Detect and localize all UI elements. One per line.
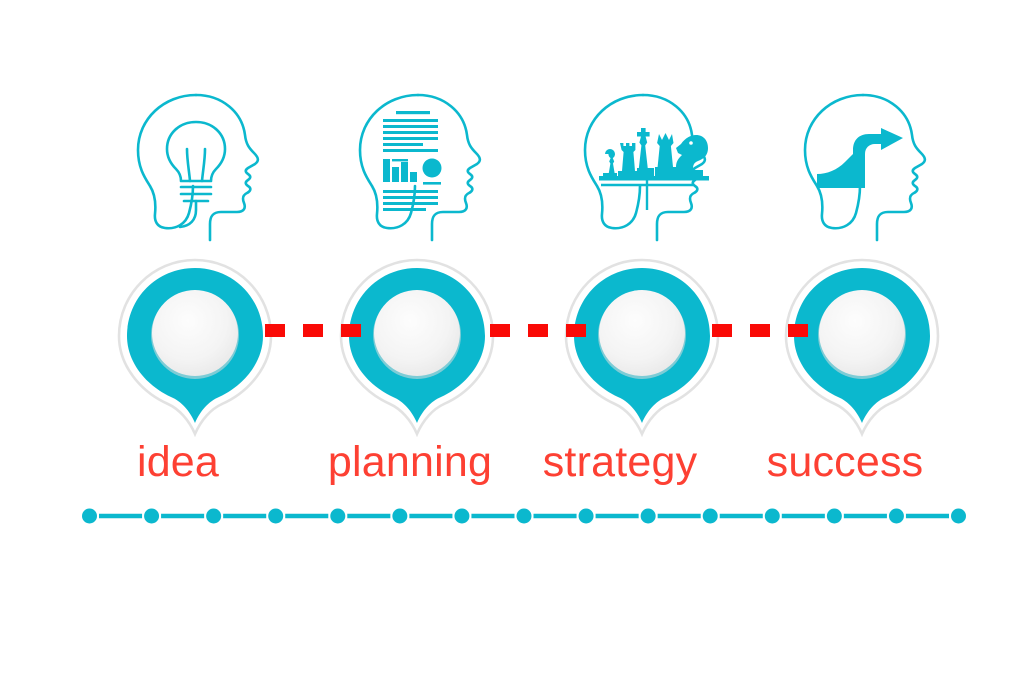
- connector-planning-strategy: [490, 322, 586, 338]
- pin-marker-strategy[interactable]: [552, 252, 732, 442]
- dash-segment: [490, 324, 510, 337]
- pin-marker-idea[interactable]: [105, 252, 285, 442]
- dash-segment: [750, 324, 770, 337]
- icon-row: [0, 88, 1024, 248]
- head-growth-arrow-icon: [785, 88, 955, 248]
- dash-segment: [712, 324, 732, 337]
- step-label-idea: idea: [48, 434, 308, 490]
- dash-segment: [788, 324, 808, 337]
- infographic-canvas: idea planning strategy success: [0, 0, 1024, 682]
- dash-segment: [303, 324, 323, 337]
- head-lightbulb-icon: [118, 88, 288, 248]
- label-row: idea planning strategy success: [0, 434, 1024, 494]
- connector-strategy-success: [712, 322, 808, 338]
- step-label-success: success: [715, 434, 975, 490]
- dash-segment: [566, 324, 586, 337]
- pin-row: [0, 252, 1024, 442]
- connector-idea-planning: [265, 322, 361, 338]
- head-document-chart-icon: [340, 88, 510, 248]
- bottom-dotted-timeline: [82, 505, 966, 527]
- dash-segment: [341, 324, 361, 337]
- dash-segment: [528, 324, 548, 337]
- dash-segment: [265, 324, 285, 337]
- pin-marker-planning[interactable]: [327, 252, 507, 442]
- head-chess-icon: [565, 88, 735, 248]
- pin-marker-success[interactable]: [772, 252, 952, 442]
- step-label-strategy: strategy: [490, 434, 750, 490]
